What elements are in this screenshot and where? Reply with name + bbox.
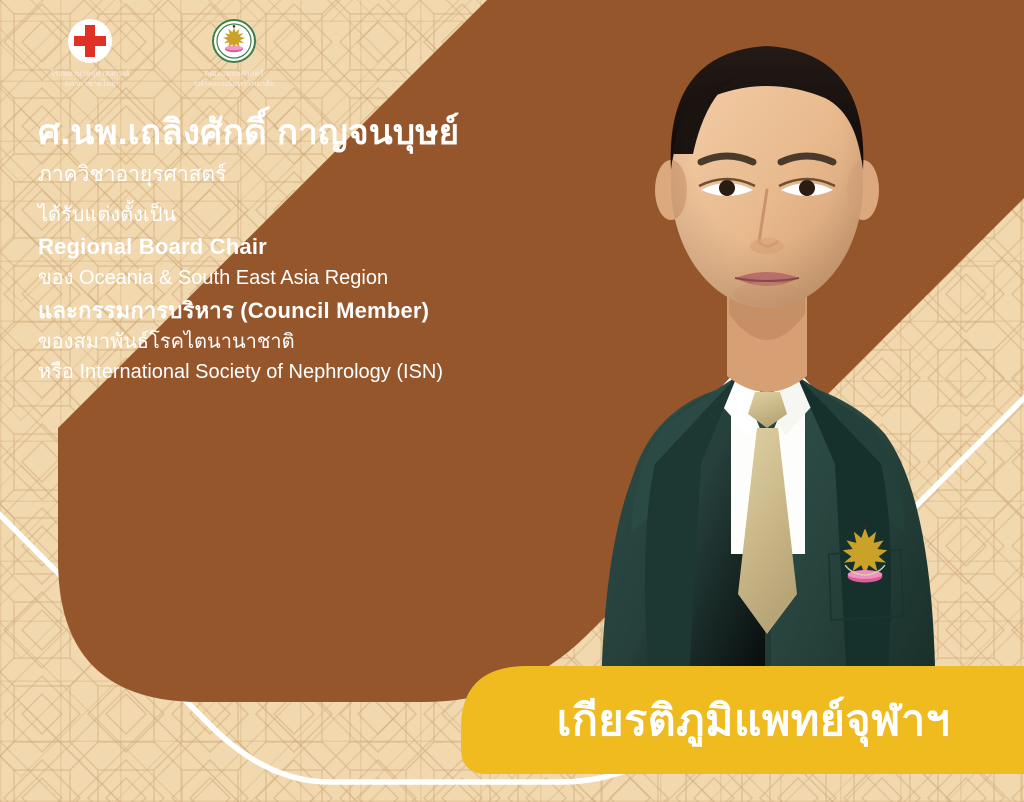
red-cross-logo-icon [67,18,113,64]
society-thai-line: ของสมาพันธ์โรคไตนานาชาติ [38,327,598,357]
logo-caption-faculty: คณะแพทยศาสตร์ จุฬาลงกรณ์มหาวิทยาลัย [193,69,274,90]
appointed-prefix: ได้รับแต่งตั้งเป็น [38,200,598,230]
poster-canvas: โรงพยาบาลจุฬาลงกรณ์ สภากาชาดไทย คณะแพทยศ… [0,0,1024,802]
logo-faculty-of-medicine: คณะแพทยศาสตร์ จุฬาลงกรณ์มหาวิทยาลัย [178,18,290,90]
person-name: ศ.นพ.เถลิงศักดิ์ กาญจนบุษย์ [38,112,598,155]
society-english-line: หรือ International Society of Nephrology… [38,357,598,387]
department-name: ภาควิชาอายุรศาสตร์ [38,161,598,188]
council-line: และกรรมการบริหาร (Council Member) [38,294,598,327]
ribbon-label: เกียรติภูมิแพทย์จุฬาฯ [461,666,1024,774]
region-line: ของ Oceania & South East Asia Region [38,263,598,293]
logo-chulalongkorn-hospital: โรงพยาบาลจุฬาลงกรณ์ สภากาชาดไทย [34,18,146,90]
logo-row: โรงพยาบาลจุฬาลงกรณ์ สภากาชาดไทย คณะแพทยศ… [34,18,290,90]
announcement-text-block: ศ.นพ.เถลิงศักดิ์ กาญจนบุษย์ ภาควิชาอายุร… [38,112,598,388]
logo-caption-hospital: โรงพยาบาลจุฬาลงกรณ์ สภากาชาดไทย [50,69,129,90]
chulalongkorn-faculty-of-medicine-crest-icon [211,18,257,64]
ribbon-banner: เกียรติภูมิแพทย์จุฬาฯ [461,666,1024,774]
position-title: Regional Board Chair [38,230,598,263]
